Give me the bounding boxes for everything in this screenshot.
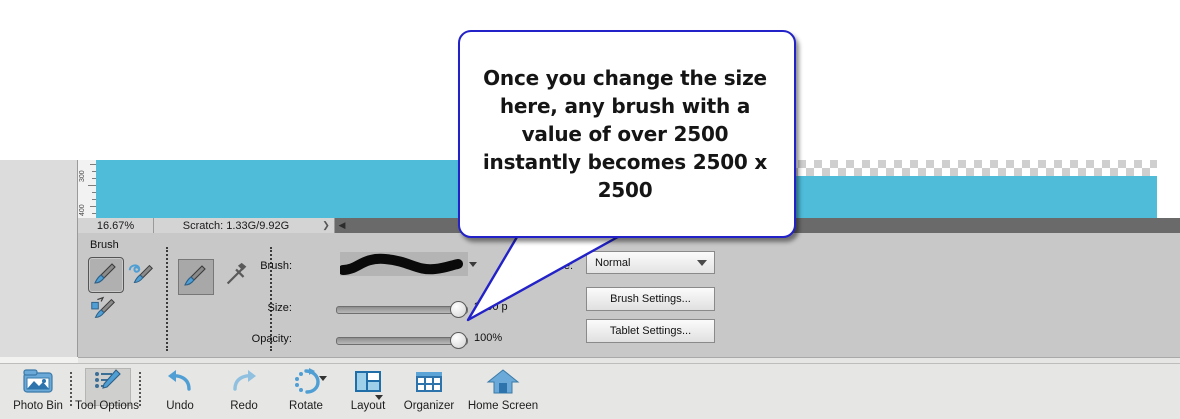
chevron-right-icon[interactable]: ❯ [318,218,335,233]
home-screen-icon [486,366,520,398]
brush-picker-label: Brush: [252,260,292,272]
opacity-slider-handle[interactable] [450,332,467,349]
brush-icon [89,258,121,290]
taskbar-label: Home Screen [468,400,538,412]
redo-icon [227,366,261,398]
mode-dropdown[interactable]: Normal [586,251,715,274]
taskbar-label: Rotate [289,400,323,412]
opacity-value[interactable]: 100% [474,332,502,344]
brush-stroke-preview[interactable] [340,252,468,276]
left-tool-panel [0,160,78,357]
taskbar-label: Redo [230,400,258,412]
tablet-settings-button[interactable]: Tablet Settings... [586,319,715,343]
size-slider-handle[interactable] [450,301,467,318]
undo-icon [163,366,197,398]
taskbar-item-rotate[interactable]: Rotate [278,366,334,412]
options-separator-1 [166,247,168,351]
tool-options-bar: Brush [78,233,1180,357]
impressionist-brush-icon [126,259,156,289]
mode-label: Mode: [533,260,573,272]
taskbar-item-organizer[interactable]: Organizer [396,366,462,412]
options-panel-title: Brush [90,239,119,251]
scratch-info-value: Scratch: 1.33G/9.92G [183,220,289,232]
ruler-label-400: 400 [79,204,86,216]
taskbar-top-divider [0,363,1180,364]
rotate-icon [289,366,323,398]
mode-dropdown-value: Normal [587,257,630,269]
taskbar-label: Layout [351,400,386,412]
tool-airbrush-button[interactable] [222,261,252,291]
ruler-label-300: 300 [79,170,86,182]
app-root: 300 400 16.67% Scratch: 1.33G/9.92G ❯ ◀ [0,0,1180,418]
tool-color-replacement-button[interactable] [88,293,118,323]
photo-bin-icon [21,366,55,398]
taskbar-label: Tool Options [75,400,139,412]
taskbar-item-tool-options[interactable]: Tool Options [75,366,139,412]
tool-options-icon [90,366,124,398]
size-slider-track[interactable] [336,306,468,314]
rotate-chevron-down-icon[interactable] [319,376,327,381]
vertical-ruler[interactable]: 300 400 [78,160,97,218]
size-value[interactable]: 2500 p [474,301,508,313]
brush-stroke-icon [340,252,468,276]
layout-chevron-down-icon[interactable] [375,395,383,400]
taskbar-separator [70,372,72,406]
zoom-level-value: 16.67% [97,220,134,232]
taskbar-item-layout[interactable]: Layout [340,366,396,412]
zoom-level-field[interactable]: 16.67% [78,218,154,233]
taskbar-separator [139,372,141,406]
brush-icon [179,260,211,292]
organizer-icon [412,366,446,398]
canvas-right-margin [1157,160,1180,218]
scratch-info-field: Scratch: 1.33G/9.92G [154,218,319,233]
size-label: Size: [252,302,292,314]
ruler-tick [88,185,96,186]
annotation-callout: Once you change the size here, any brush… [458,30,792,234]
tool-brush-button[interactable] [88,257,124,293]
layout-icon [351,366,385,398]
airbrush-icon [222,261,252,291]
bottom-taskbar: Photo Bin Tool Options Und [0,357,1180,419]
tool-brush-mode-button[interactable] [178,259,214,295]
callout-text: Once you change the size here, any brush… [472,64,778,204]
taskbar-label: Undo [166,400,194,412]
opacity-slider-track[interactable] [336,337,468,345]
taskbar-label: Photo Bin [13,400,63,412]
taskbar-label: Organizer [404,400,455,412]
brush-settings-button[interactable]: Brush Settings... [586,287,715,311]
tool-impressionist-brush-button[interactable] [126,259,156,289]
color-replacement-brush-icon [88,293,118,323]
chevron-down-icon [697,260,707,266]
taskbar-item-photo-bin[interactable]: Photo Bin [8,366,68,412]
taskbar-item-redo[interactable]: Redo [216,366,272,412]
scroll-left-arrow-icon[interactable]: ◀ [335,218,349,233]
taskbar-item-undo[interactable]: Undo [152,366,208,412]
brush-picker-chevron-down-icon[interactable] [469,262,477,267]
taskbar-item-home-screen[interactable]: Home Screen [460,366,546,412]
opacity-label: Opacity: [244,333,292,345]
